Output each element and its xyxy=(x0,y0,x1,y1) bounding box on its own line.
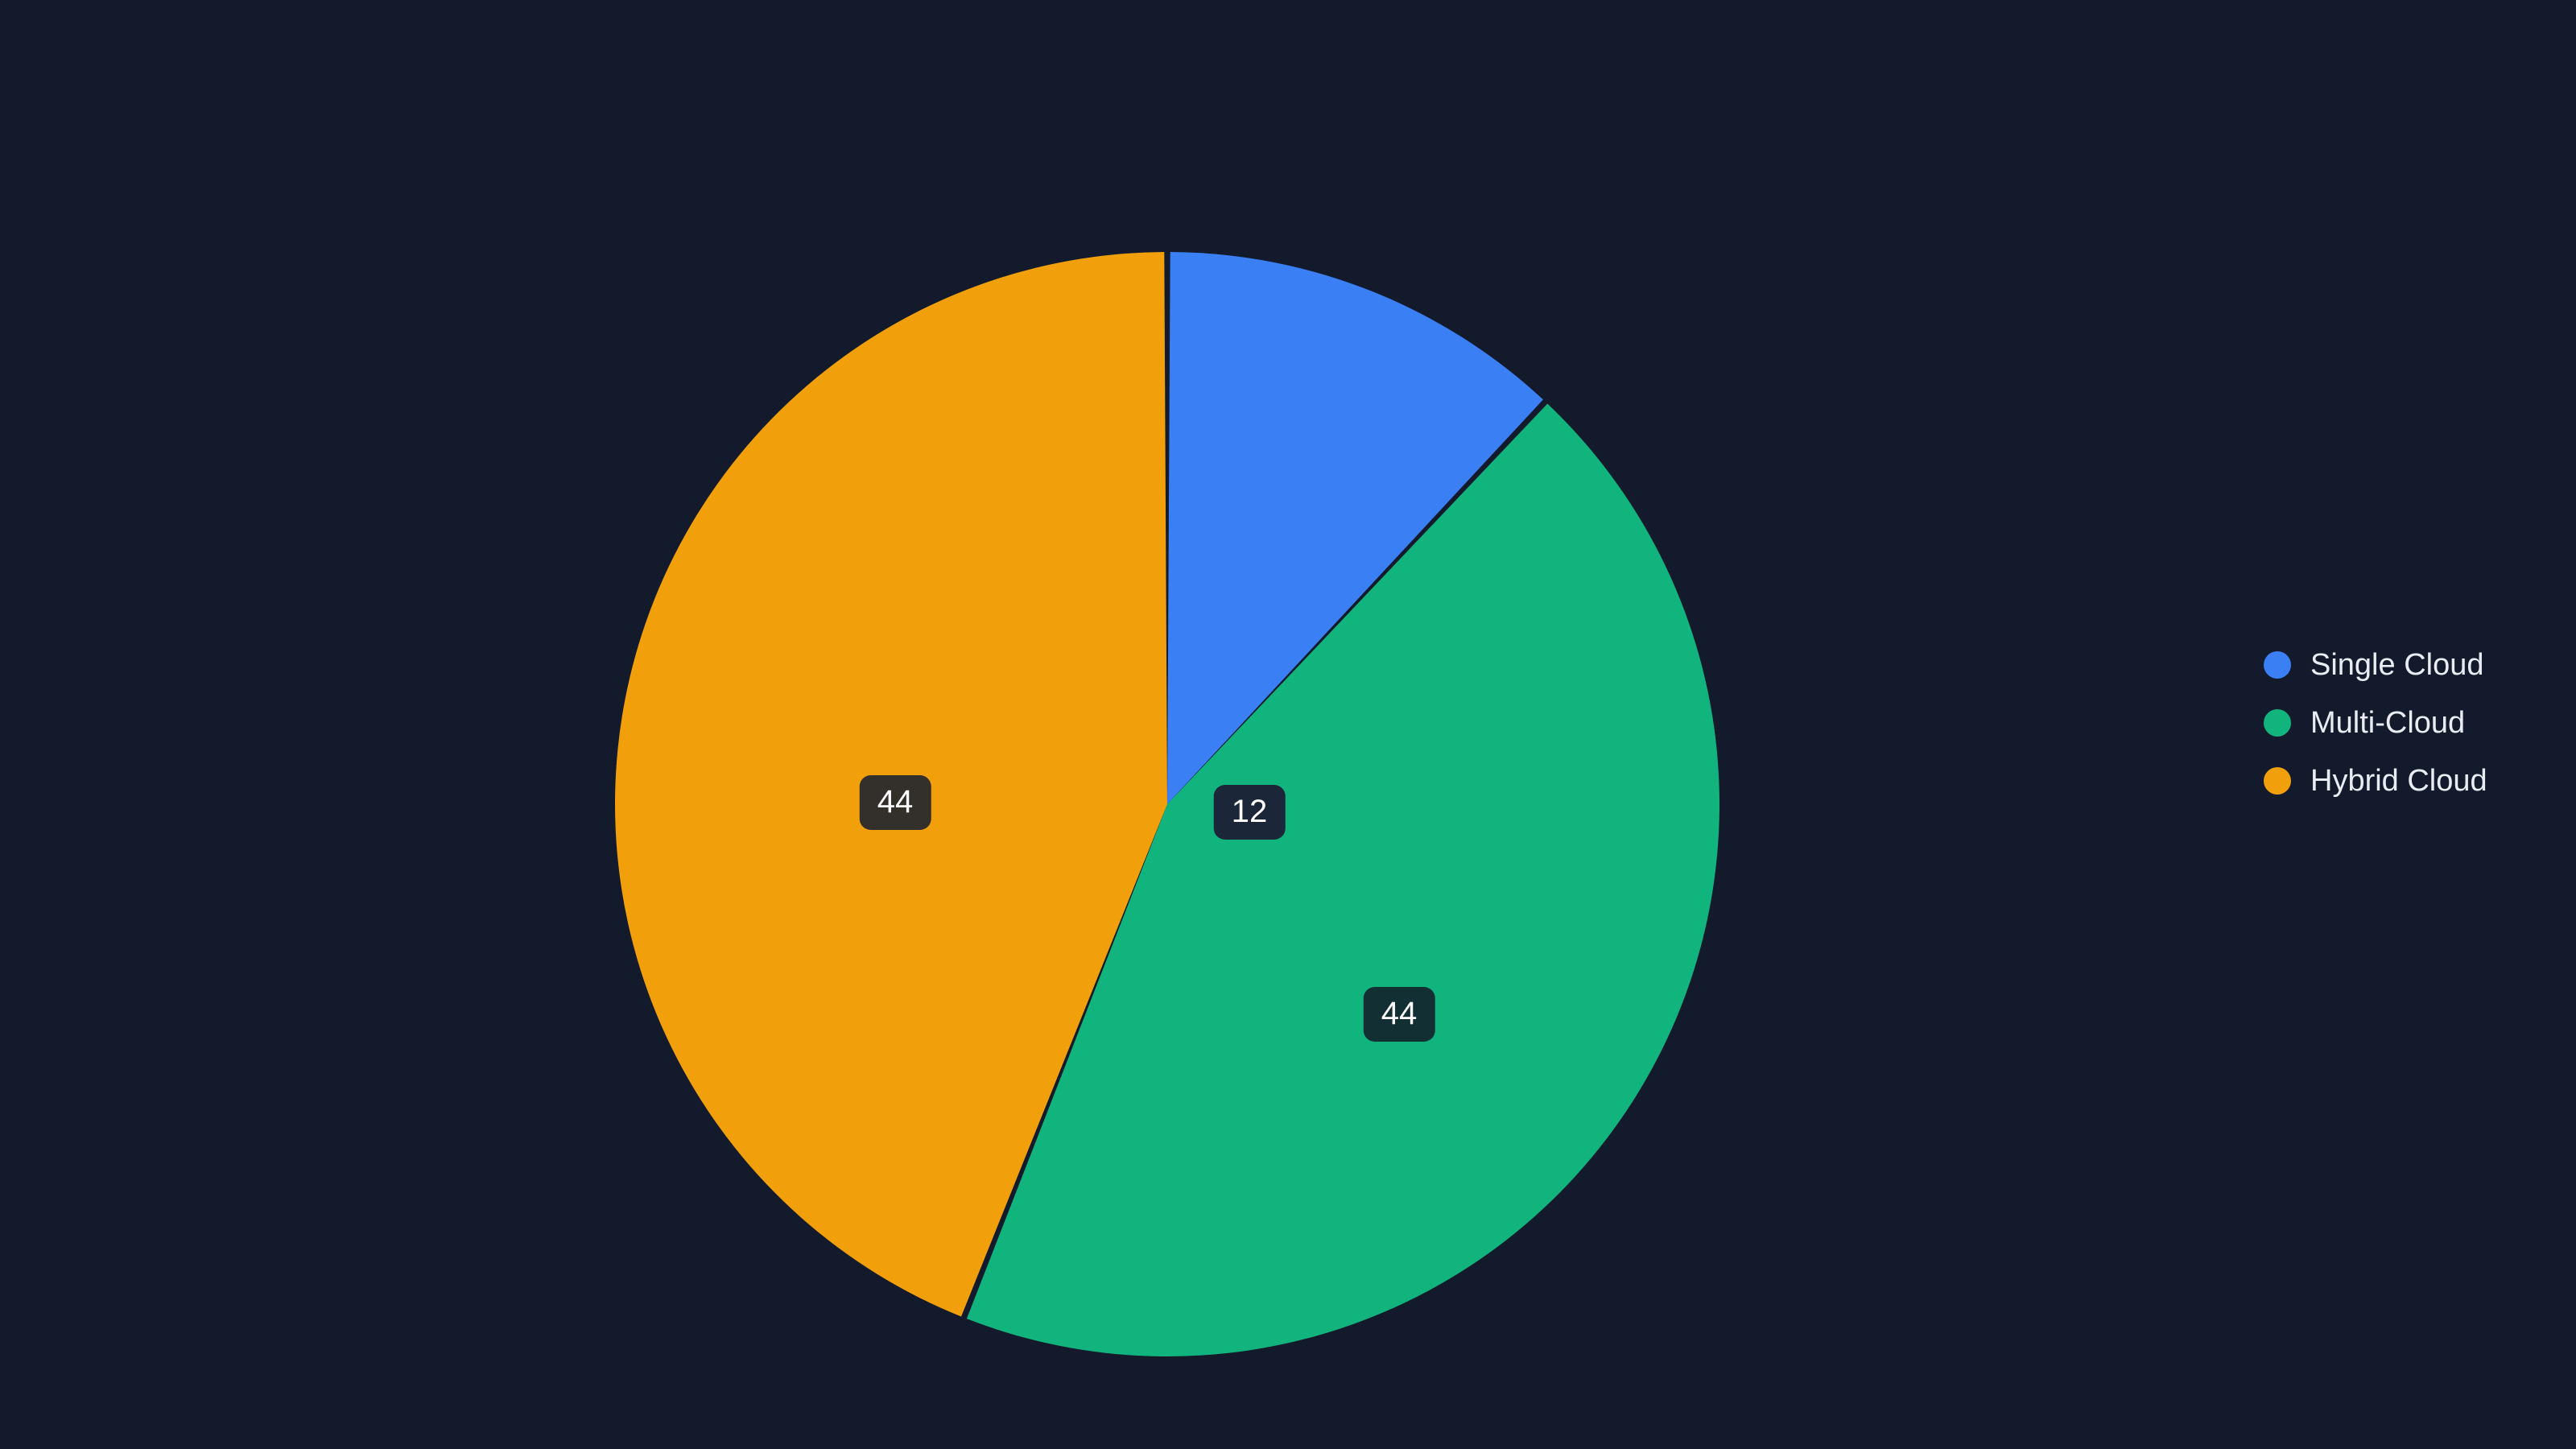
legend-item-hybrid-cloud[interactable]: Hybrid Cloud xyxy=(2264,752,2537,810)
legend-swatch-circle-icon xyxy=(2264,709,2291,737)
legend-item-multi-cloud[interactable]: Multi-Cloud xyxy=(2264,694,2537,752)
legend: Single Cloud Multi-Cloud Hybrid Cloud xyxy=(2264,636,2537,810)
legend-swatch-circle-icon xyxy=(2264,767,2291,795)
pie-chart-canvas xyxy=(0,0,2576,1449)
pie-chart-figure: Adoption of Multi-Cloud Environments 12 … xyxy=(0,0,2576,1449)
legend-label-multi-cloud: Multi-Cloud xyxy=(2310,708,2465,738)
legend-label-hybrid-cloud: Hybrid Cloud xyxy=(2310,766,2487,796)
legend-item-single-cloud[interactable]: Single Cloud xyxy=(2264,636,2537,694)
legend-swatch-circle-icon xyxy=(2264,651,2291,679)
legend-label-single-cloud: Single Cloud xyxy=(2310,650,2483,680)
